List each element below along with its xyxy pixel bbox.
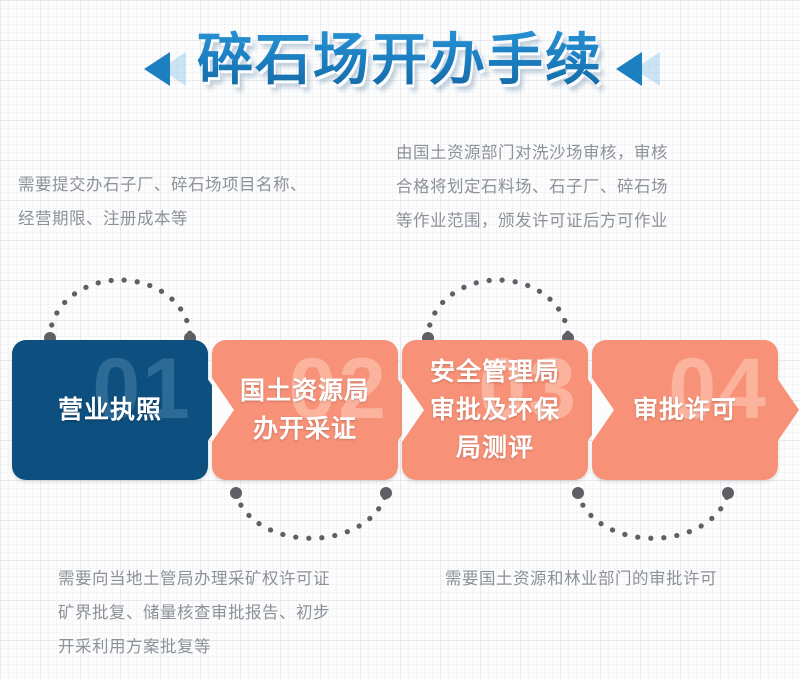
flow-step-1[interactable]: 01 营业执照: [12, 340, 208, 480]
infographic-canvas: 碎石场开办手续 需要提交办石子厂、碎石场项目名称、 经营期限、注册成本等 由国土…: [0, 0, 800, 679]
flow-step-4-label: 审批许可: [633, 391, 737, 429]
flow-step-2[interactable]: 02 国土资源局 办开采证: [212, 340, 398, 480]
flow-step-2-notch: [212, 378, 234, 442]
connector-arc-down-right: [568, 485, 738, 557]
process-flow: 01 营业执照 02 国土资源局 办开采证 03 安全管理局 审批及环保 局测评…: [12, 340, 788, 480]
description-bottom-right: 需要国土资源和林业部门的审批许可: [445, 562, 795, 596]
flow-step-3[interactable]: 03 安全管理局 审批及环保 局测评: [402, 340, 588, 480]
description-bottom-left: 需要向当地土管局办理采矿权许可证 矿界批复、储量核查审批报告、初步 开采利用方案…: [58, 562, 408, 664]
flow-step-3-notch: [402, 378, 424, 442]
flow-step-4[interactable]: 04 审批许可: [592, 340, 778, 480]
flow-step-1-label: 营业执照: [58, 391, 162, 429]
connector-arc-up-right: [418, 268, 578, 344]
title-band: 碎石场开办手续: [0, 14, 800, 110]
flow-step-3-label: 安全管理局 审批及环保 局测评: [430, 353, 560, 467]
description-top-right: 由国土资源部门对洗沙场审核，审核 合格将划定石料场、石子厂、碎石场 等作业范围，…: [396, 136, 774, 238]
connector-arc-down-left: [226, 485, 396, 557]
page-title: 碎石场开办手续: [0, 14, 800, 106]
flow-step-4-arrow-tab: [777, 378, 799, 442]
flow-step-4-notch: [592, 378, 614, 442]
description-top-left: 需要提交办石子厂、碎石场项目名称、 经营期限、注册成本等: [18, 168, 378, 236]
connector-arc-up-left: [40, 268, 200, 344]
flow-step-2-label: 国土资源局 办开采证: [240, 372, 370, 448]
